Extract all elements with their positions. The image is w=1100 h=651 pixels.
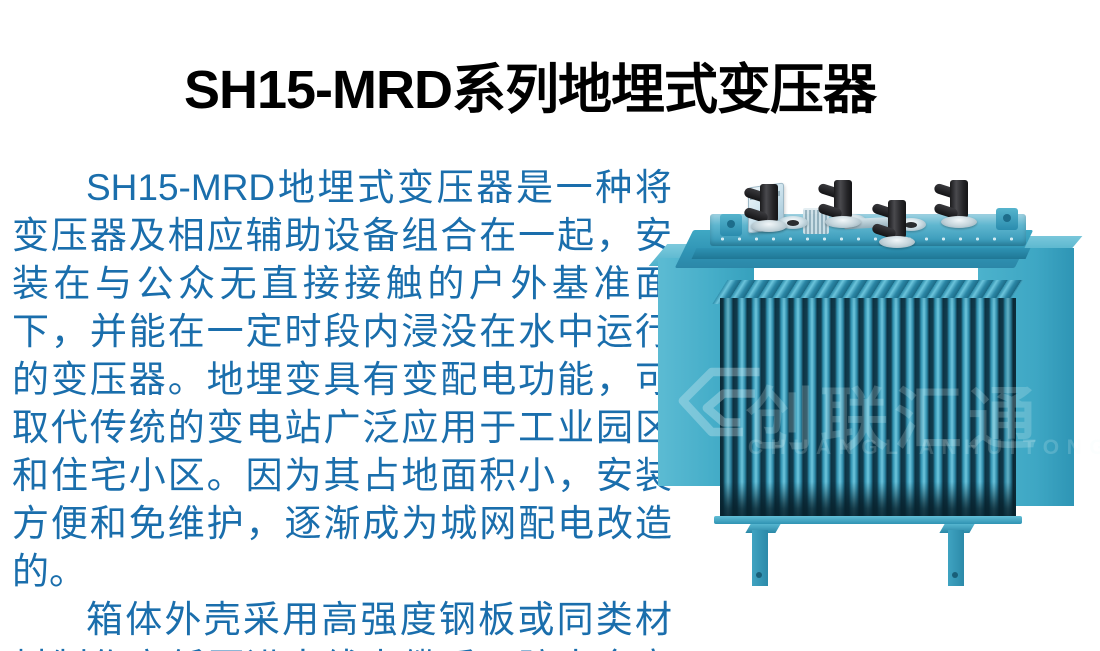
product-detail-page: SH15-MRD系列地埋式变压器 SH15-MRD地埋式变压器是一种将变压器及相… <box>0 0 1100 651</box>
lifting-lug-right <box>996 208 1018 230</box>
base-foot-right <box>948 530 964 586</box>
product-photo: 创联汇通 CHUANGLIANHUITONG <box>648 152 1100 622</box>
lid-edge <box>692 248 1031 259</box>
page-title: SH15-MRD系列地埋式变压器 <box>0 62 1060 119</box>
bushing-flange <box>751 220 787 232</box>
description-block: SH15-MRD地埋式变压器是一种将变压器及相应辅助设备组合在一起，安装在与公众… <box>12 164 672 651</box>
bushing-flange <box>825 216 861 228</box>
bushing-flange <box>941 216 977 228</box>
bushing-4 <box>946 180 972 236</box>
description-paragraph-1: SH15-MRD地埋式变压器是一种将变压器及相应辅助设备组合在一起，安装在与公众… <box>12 164 672 596</box>
radiator-shadow <box>720 482 1016 520</box>
bushing-1 <box>756 184 782 240</box>
radiator-base-rail <box>714 516 1022 524</box>
lifting-lug-left <box>720 214 742 236</box>
base-foot-left <box>752 530 768 586</box>
bushing-3 <box>884 200 910 256</box>
bushing-2 <box>830 180 856 236</box>
bushing-flange <box>879 236 915 248</box>
description-paragraph-2: 箱体外壳采用高强度钢板或同类材料制作高低压进出线电缆采用防水全密封、全绝缘、全屏… <box>12 596 672 651</box>
